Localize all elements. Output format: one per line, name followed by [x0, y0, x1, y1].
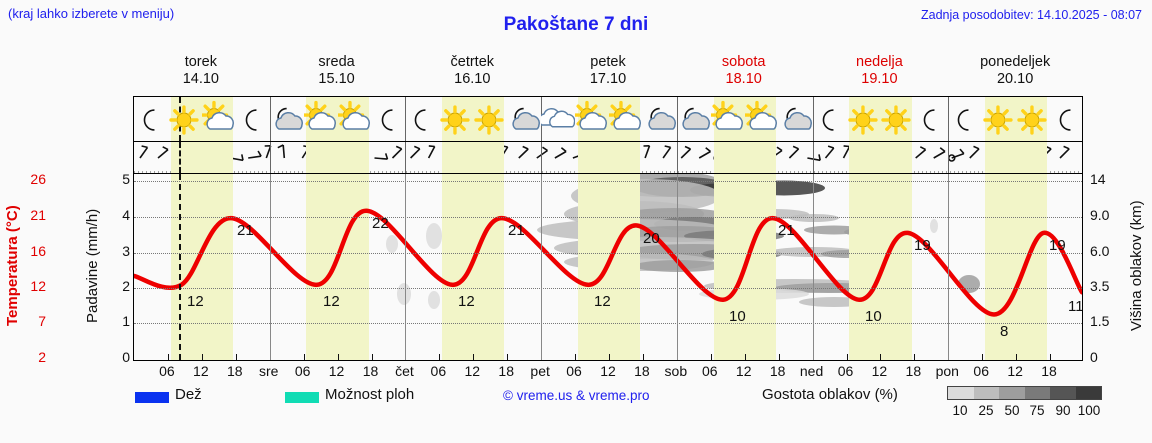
- x-tick-mark: [473, 354, 474, 360]
- weather-icon-moon: [914, 97, 948, 142]
- cloud-density-number: 10: [947, 403, 973, 418]
- x-tick-mark: [304, 354, 305, 360]
- day-name: ponedeljek: [945, 54, 1085, 71]
- day-header-1: sreda 15.10: [267, 54, 407, 88]
- day-name: petek: [538, 54, 678, 71]
- day-separator: [541, 142, 542, 173]
- daylight-band: [849, 142, 911, 173]
- last-updated: Zadnja posodobitev: 14.10.2025 - 08:07: [921, 8, 1142, 22]
- x-tick-06: 06: [557, 363, 591, 379]
- weather-icon-sun-cloud: [202, 97, 236, 142]
- temp-min-label-day2: 12: [458, 293, 475, 310]
- weather-icon-sun: [847, 97, 881, 142]
- day-date: 19.10: [809, 71, 949, 88]
- x-tick-mark: [168, 354, 169, 360]
- weather-icon-moon: [405, 97, 439, 142]
- temp-tick: 21: [20, 207, 46, 223]
- weather-icon-moon-cloud: [779, 97, 813, 142]
- temp-min-label-day0: 12: [187, 293, 204, 310]
- weather-icon-sun-cloud: [609, 97, 643, 142]
- weather-icon-sun: [168, 97, 202, 142]
- x-tick-mark: [643, 354, 644, 360]
- x-tick-12: 12: [184, 363, 218, 379]
- cloud-tick: 1.5: [1090, 313, 1124, 329]
- prec-tick: 4: [104, 207, 130, 223]
- copyright-link[interactable]: © vreme.us & vreme.pro: [503, 388, 650, 403]
- axis-title-cloud-height: Višina oblakov (km): [1128, 172, 1150, 360]
- day-header-2: četrtek 16.10: [402, 54, 542, 88]
- x-tick-06: 06: [693, 363, 727, 379]
- prec-tick: 5: [104, 171, 130, 187]
- day-separator-line: [405, 174, 406, 360]
- x-tick-mark: [779, 354, 780, 360]
- weather-icon-moon-cloud: [643, 97, 677, 142]
- x-tick-mark: [236, 354, 237, 360]
- day-separator-line: [541, 174, 542, 360]
- x-tick-mark: [338, 354, 339, 360]
- gridline: [134, 323, 1082, 324]
- day-separator-line: [948, 174, 949, 360]
- x-tick-mark: [982, 354, 983, 360]
- weather-icon-sun-cloud: [711, 97, 745, 142]
- day-header-4: sobota 18.10: [674, 54, 814, 88]
- temp-tick: 26: [20, 171, 46, 187]
- x-tick-06: 06: [150, 363, 184, 379]
- x-tick-06: 06: [286, 363, 320, 379]
- legend-label-showers: Možnost ploh: [325, 386, 414, 403]
- temp-tick: 12: [20, 278, 46, 294]
- cloud-density-step-90: [1050, 387, 1076, 399]
- day-name: nedelja: [809, 54, 949, 71]
- legend-label-rain: Dež: [175, 386, 202, 403]
- x-tick-18: 18: [761, 363, 795, 379]
- x-tick-18: 18: [354, 363, 388, 379]
- daylight-band: [442, 142, 504, 173]
- cloud-density-step-75: [1025, 387, 1051, 399]
- temp-max-label-day3: 20: [643, 230, 660, 247]
- weather-icon-moon-cloud: [270, 97, 304, 142]
- x-tick-mark: [1050, 354, 1051, 360]
- x-tick-18: 18: [625, 363, 659, 379]
- cloud-density-number: 75: [1024, 403, 1050, 418]
- x-tick-pon: pon: [930, 363, 964, 379]
- axis-title-temperature: Temperatura (°C): [4, 176, 26, 356]
- weather-icon-moon: [1050, 97, 1083, 142]
- x-tick-mark: [711, 354, 712, 360]
- day-name: sreda: [267, 54, 407, 71]
- weather-icon-sun: [473, 97, 507, 142]
- weather-icon-sun-cloud: [575, 97, 609, 142]
- x-tick-mark: [372, 354, 373, 360]
- legend-swatch-rain: [135, 392, 169, 403]
- x-tick-mark: [439, 354, 440, 360]
- axis-title-precipitation: Padavine (mm/h): [84, 176, 106, 356]
- x-tick-06: 06: [829, 363, 863, 379]
- x-tick-mark: [880, 354, 881, 360]
- day-separator: [405, 142, 406, 173]
- day-name: sobota: [674, 54, 814, 71]
- cloud-density-number: 90: [1050, 403, 1076, 418]
- cloud-density-step-100: [1076, 387, 1102, 399]
- gridline: [134, 253, 1082, 254]
- x-tick-18: 18: [218, 363, 252, 379]
- day-separator: [270, 142, 271, 173]
- cloud-density-number: 100: [1076, 403, 1102, 418]
- temp-tick: 16: [20, 243, 46, 259]
- weather-icon-moon: [813, 97, 847, 142]
- daylight-band: [985, 142, 1047, 173]
- x-tick-12: 12: [455, 363, 489, 379]
- weather-icon-moon-cloud: [677, 97, 711, 142]
- x-tick-18: 18: [1032, 363, 1066, 379]
- current-time-marker: [179, 174, 181, 360]
- cloud-density-step-25: [974, 387, 1000, 399]
- x-tick-mark: [507, 354, 508, 360]
- prec-tick: 0: [104, 349, 130, 365]
- x-tick-12: 12: [998, 363, 1032, 379]
- day-date: 20.10: [945, 71, 1085, 88]
- day-date: 15.10: [267, 71, 407, 88]
- day-name: četrtek: [402, 54, 542, 71]
- temp-tick: 2: [20, 349, 46, 365]
- temp-max-label-day5: 19: [914, 237, 931, 254]
- temp-max-label-day6: 19: [1049, 237, 1066, 254]
- x-tick-ned: ned: [795, 363, 829, 379]
- temp-end-label: 11: [1068, 298, 1083, 315]
- day-separator: [948, 142, 949, 173]
- day-header-3: petek 17.10: [538, 54, 678, 88]
- temp-min-label-day6: 8: [1000, 323, 1008, 340]
- cloud-density-step-10: [948, 387, 974, 399]
- x-tick-pet: pet: [523, 363, 557, 379]
- day-separator: [677, 142, 678, 173]
- cloud-tick: 0: [1090, 349, 1124, 365]
- x-tick-18: 18: [896, 363, 930, 379]
- x-tick-mark: [914, 354, 915, 360]
- x-tick-12: 12: [320, 363, 354, 379]
- cloud-density-title: Gostota oblakov (%): [762, 386, 898, 403]
- day-separator-line: [270, 174, 271, 360]
- legend-swatch-showers: [285, 392, 319, 403]
- weather-icon-sun: [1016, 97, 1050, 142]
- temp-min-label-day3: 12: [594, 293, 611, 310]
- day-header-5: nedelja 19.10: [809, 54, 949, 88]
- x-tick-mark: [745, 354, 746, 360]
- weather-icon-moon-cloud: [507, 97, 541, 142]
- cloud-tick: 14: [1090, 171, 1124, 187]
- cloud-density-number: 50: [999, 403, 1025, 418]
- gridline: [134, 288, 1082, 289]
- day-separator: [813, 142, 814, 173]
- weather-icon-sun: [439, 97, 473, 142]
- x-tick-06: 06: [964, 363, 998, 379]
- temp-max-label-day2: 21: [508, 222, 525, 239]
- weather-icon-sun-cloud: [338, 97, 372, 142]
- day-name: torek: [131, 54, 271, 71]
- x-tick-mark: [202, 354, 203, 360]
- temperature-curve: [134, 174, 1082, 360]
- wind-barb-row: [133, 142, 1083, 173]
- x-tick-mark: [1016, 354, 1017, 360]
- cloud-density-step-50: [999, 387, 1025, 399]
- day-header-0: torek 14.10: [131, 54, 271, 88]
- temp-tick: 7: [20, 313, 46, 329]
- weather-icon-sun: [982, 97, 1016, 142]
- x-tick-12: 12: [591, 363, 625, 379]
- weather-icon-sun-cloud: [304, 97, 338, 142]
- prec-tick: 1: [104, 313, 130, 329]
- prec-tick: 2: [104, 278, 130, 294]
- weather-icon-moon: [948, 97, 982, 142]
- day-date: 14.10: [131, 71, 271, 88]
- x-tick-sob: sob: [659, 363, 693, 379]
- cloud-density-colorbar: [947, 386, 1102, 400]
- x-tick-mark: [575, 354, 576, 360]
- day-header-6: ponedeljek 20.10: [945, 54, 1085, 88]
- cloud-tick: 3.5: [1090, 278, 1124, 294]
- temp-max-label-day4: 21: [778, 222, 795, 239]
- x-tick-12: 12: [862, 363, 896, 379]
- weather-icon-moon: [134, 97, 168, 142]
- daylight-band: [714, 142, 776, 173]
- x-tick-mark: [847, 354, 848, 360]
- x-tick-06: 06: [421, 363, 455, 379]
- temp-max-label-day0: 21: [237, 222, 254, 239]
- forecast-plot: 12211222122112201021101981911: [133, 96, 1083, 361]
- gridline: [134, 181, 1082, 182]
- daylight-band: [578, 142, 640, 173]
- weather-icon-moon: [236, 97, 270, 142]
- daylight-band: [306, 142, 368, 173]
- day-separator-line: [813, 174, 814, 360]
- x-tick-čet: čet: [387, 363, 421, 379]
- forecast-graph: 12211222122112201021101981911: [133, 173, 1083, 361]
- current-time-marker-wind: [179, 142, 181, 173]
- x-tick-12: 12: [727, 363, 761, 379]
- x-tick-sre: sre: [252, 363, 286, 379]
- weather-icon-sun: [880, 97, 914, 142]
- weather-icon-row: [133, 96, 1083, 142]
- temp-min-label-day1: 12: [323, 293, 340, 310]
- cloud-density-number: 25: [973, 403, 999, 418]
- weather-icon-cloud: [541, 97, 575, 142]
- x-tick-18: 18: [489, 363, 523, 379]
- day-date: 18.10: [674, 71, 814, 88]
- gridline: [134, 217, 1082, 218]
- x-tick-mark: [609, 354, 610, 360]
- prec-tick: 3: [104, 243, 130, 259]
- day-date: 16.10: [402, 71, 542, 88]
- day-separator-line: [677, 174, 678, 360]
- weather-icon-sun-cloud: [745, 97, 779, 142]
- cloud-tick: 9.0: [1090, 207, 1124, 223]
- weather-icon-moon: [372, 97, 406, 142]
- cloud-tick: 6.0: [1090, 243, 1124, 259]
- day-date: 17.10: [538, 71, 678, 88]
